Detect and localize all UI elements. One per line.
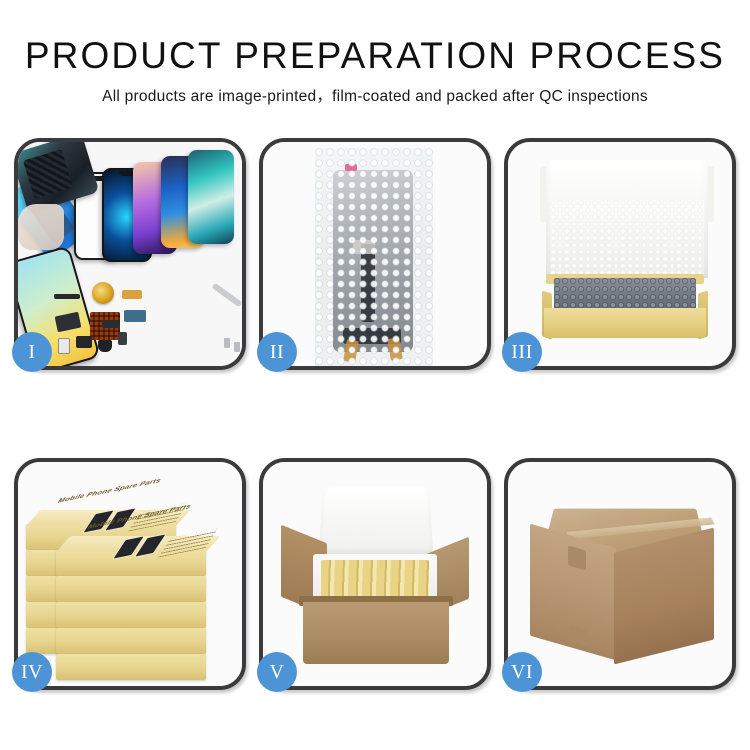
grey-bubble-wrap-insert [554,278,696,312]
foam-box-lid [318,487,433,554]
step-6-illustration [508,462,732,686]
page-header: PRODUCT PREPARATION PROCESS All products… [0,0,750,108]
part-sim-tray [58,338,70,354]
process-step-panel-1[interactable]: I [14,138,246,370]
part-flex-cable-c [122,290,142,299]
process-step-panel-5[interactable]: V [259,458,491,690]
part-earpiece-mesh [54,294,80,299]
retail-box [56,654,206,680]
white-foam-sheet [550,200,704,276]
step-1-illustration [18,142,242,366]
step-badge-1: I [12,332,52,372]
step-3-illustration [508,142,732,366]
bubble-texture [315,148,433,366]
retail-box-stack: Mobile Phone Spare Parts Mobile Phone Sp… [24,480,238,676]
part-speaker-module [98,340,112,352]
process-step-panel-6[interactable]: VI [504,458,736,690]
process-step-panel-2[interactable]: II [259,138,491,370]
retail-box [56,628,206,654]
page-title: PRODUCT PREPARATION PROCESS [0,34,750,78]
retail-box: Mobile Phone Spare Parts [56,550,206,576]
phone-screen-teal [188,150,234,244]
box-tray-front [544,308,706,338]
bubble-wrap-bag [315,148,433,366]
part-connector-strip [102,320,120,328]
step-badge-4: IV [12,652,52,692]
step-5-illustration [263,462,487,686]
step-badge-3: III [502,332,542,372]
retail-box [56,576,206,602]
part-battery-cell [118,332,127,345]
process-step-grid: I II [0,138,750,690]
step-badge-6: VI [502,652,542,692]
part-camera-module [76,336,92,348]
part-wireless-coil [92,282,114,304]
technician-hand [18,204,64,250]
step-4-illustration: Mobile Phone Spare Parts Mobile Phone Sp… [18,462,242,686]
part-screw-b [234,342,240,352]
process-step-panel-4[interactable]: Mobile Phone Spare Parts Mobile Phone Sp… [14,458,246,690]
step-badge-2: II [257,332,297,372]
step-2-illustration [263,142,487,366]
retail-box [56,602,206,628]
yellow-boxes-inside [321,560,429,600]
step-badge-5: V [257,652,297,692]
part-screw-a [224,338,230,348]
carton-right-face [614,528,714,665]
process-step-panel-3[interactable]: III [504,138,736,370]
part-flex-cable-b [124,310,146,322]
sealed-carton [524,486,720,664]
retail-box-label: Mobile Phone Spare Parts [56,477,163,505]
carton-front-face [303,602,449,664]
retail-box-top-face: Mobile Phone Spare Parts [56,536,220,552]
page-subtitle: All products are image-printed，film-coat… [0,86,750,108]
